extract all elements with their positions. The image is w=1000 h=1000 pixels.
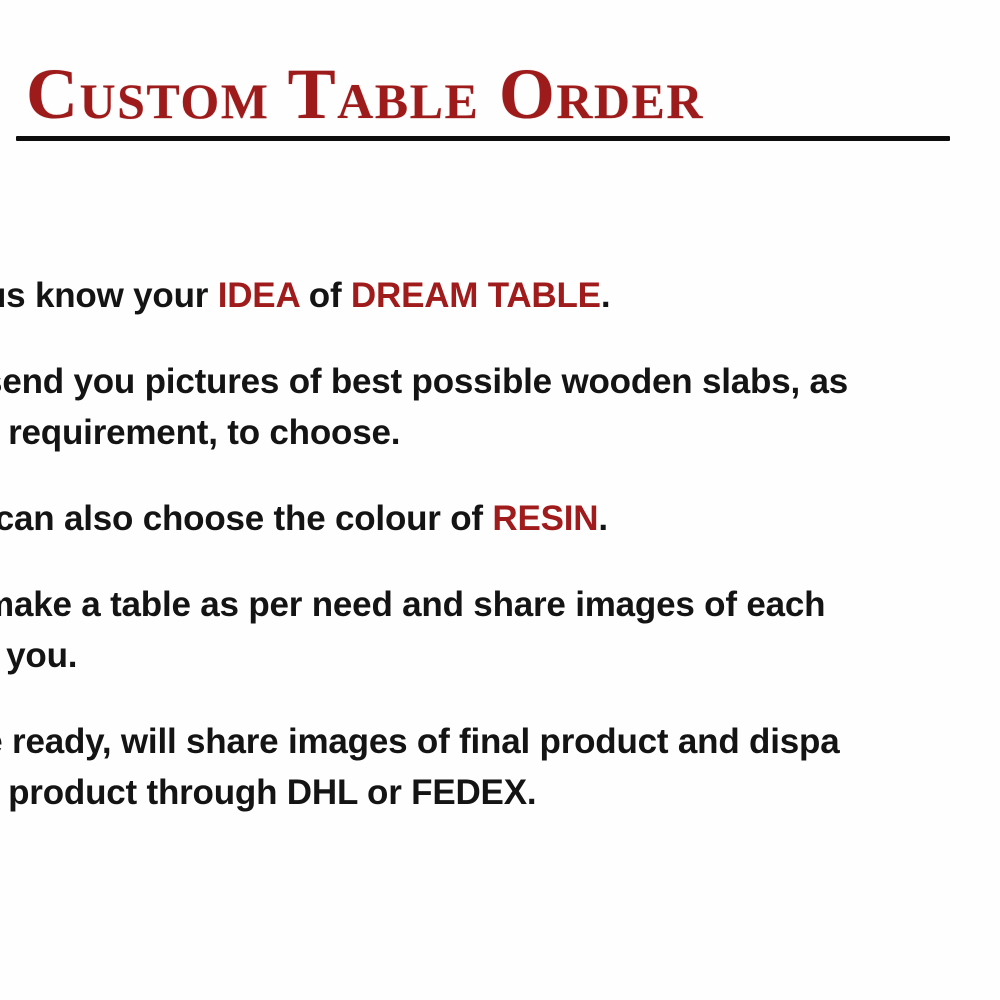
text-run: of xyxy=(299,276,351,315)
text-run: ce ready, will share images of final pro… xyxy=(0,722,839,761)
page-title: Custom Table Order xyxy=(0,56,1000,132)
text-run: . xyxy=(598,499,608,538)
text-run: u can also choose the colour of xyxy=(0,499,492,538)
text-line: l send you pictures of best possible woo… xyxy=(0,356,1000,407)
text-run: ur requirement, to choose. xyxy=(0,413,400,452)
highlighted-term: IDEA xyxy=(218,276,300,315)
text-line: l make a table as per need and share ima… xyxy=(0,579,1000,630)
para-idea: t us know your IDEA of DREAM TABLE. xyxy=(0,270,1000,321)
text-line: th you. xyxy=(0,630,1000,681)
text-line: ur product through DHL or FEDEX. xyxy=(0,767,1000,818)
para-make-table: l make a table as per need and share ima… xyxy=(0,579,1000,681)
highlighted-term: DREAM TABLE xyxy=(351,276,601,315)
body-copy: t us know your IDEA of DREAM TABLE.l sen… xyxy=(0,270,1000,818)
highlighted-term: RESIN xyxy=(492,499,598,538)
text-run: l make a table as per need and share ima… xyxy=(0,585,825,624)
title-underline-rule xyxy=(16,136,950,141)
text-run: th you. xyxy=(0,636,77,675)
text-run: l send you pictures of best possible woo… xyxy=(0,362,848,401)
para-slabs: l send you pictures of best possible woo… xyxy=(0,356,1000,458)
text-run: t us know your xyxy=(0,276,218,315)
text-line: t us know your IDEA of DREAM TABLE. xyxy=(0,270,1000,321)
para-resin: u can also choose the colour of RESIN. xyxy=(0,493,1000,544)
text-line: u can also choose the colour of RESIN. xyxy=(0,493,1000,544)
text-run: ur product through DHL or FEDEX. xyxy=(0,773,536,812)
slide-canvas: Custom Table Order t us know your IDEA o… xyxy=(0,0,1000,1000)
text-line: ce ready, will share images of final pro… xyxy=(0,716,1000,767)
text-line: ur requirement, to choose. xyxy=(0,407,1000,458)
text-run: . xyxy=(601,276,611,315)
title-block: Custom Table Order xyxy=(0,56,1000,132)
para-dispatch: ce ready, will share images of final pro… xyxy=(0,716,1000,818)
